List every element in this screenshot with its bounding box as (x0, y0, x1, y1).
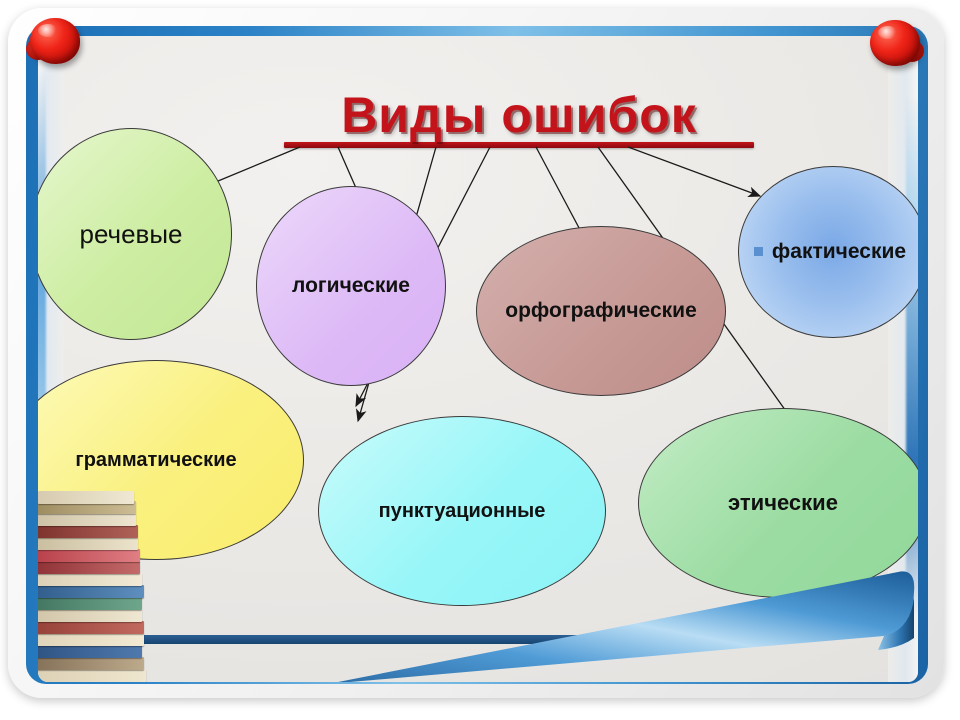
node-logicheskie[interactable]: логические (256, 186, 446, 386)
node-label-grammaticheskie: грамматические (69, 449, 242, 472)
board-face: Виды ошибок речевые (38, 36, 918, 682)
arrow-to-rechevye (206, 147, 300, 186)
square-bullet-icon (754, 247, 763, 256)
pushpin-top-left[interactable] (26, 16, 84, 72)
node-label-logicheskie: логические (286, 274, 416, 298)
node-orfograficheskie[interactable]: орфографические (476, 226, 726, 396)
page-curl (38, 506, 918, 682)
node-fakticheskie[interactable]: фактические (738, 166, 918, 338)
node-rechevye[interactable]: речевые (38, 128, 232, 340)
slide-canvas: Виды ошибок речевые (0, 0, 960, 720)
node-label-fakticheskie-wrap: фактические (748, 240, 918, 264)
node-label-fakticheskie: фактические (766, 240, 912, 264)
curl-sheet (338, 571, 914, 682)
books-stack (38, 491, 158, 682)
arrow-to-fakticheskie (628, 147, 760, 196)
pushpin-gloss (878, 26, 898, 39)
node-label-rechevye: речевые (73, 219, 188, 250)
node-label-orfograficheskie: орфографические (499, 299, 703, 323)
pushpin-top-right[interactable] (866, 18, 924, 74)
pushpin-gloss (38, 24, 58, 37)
